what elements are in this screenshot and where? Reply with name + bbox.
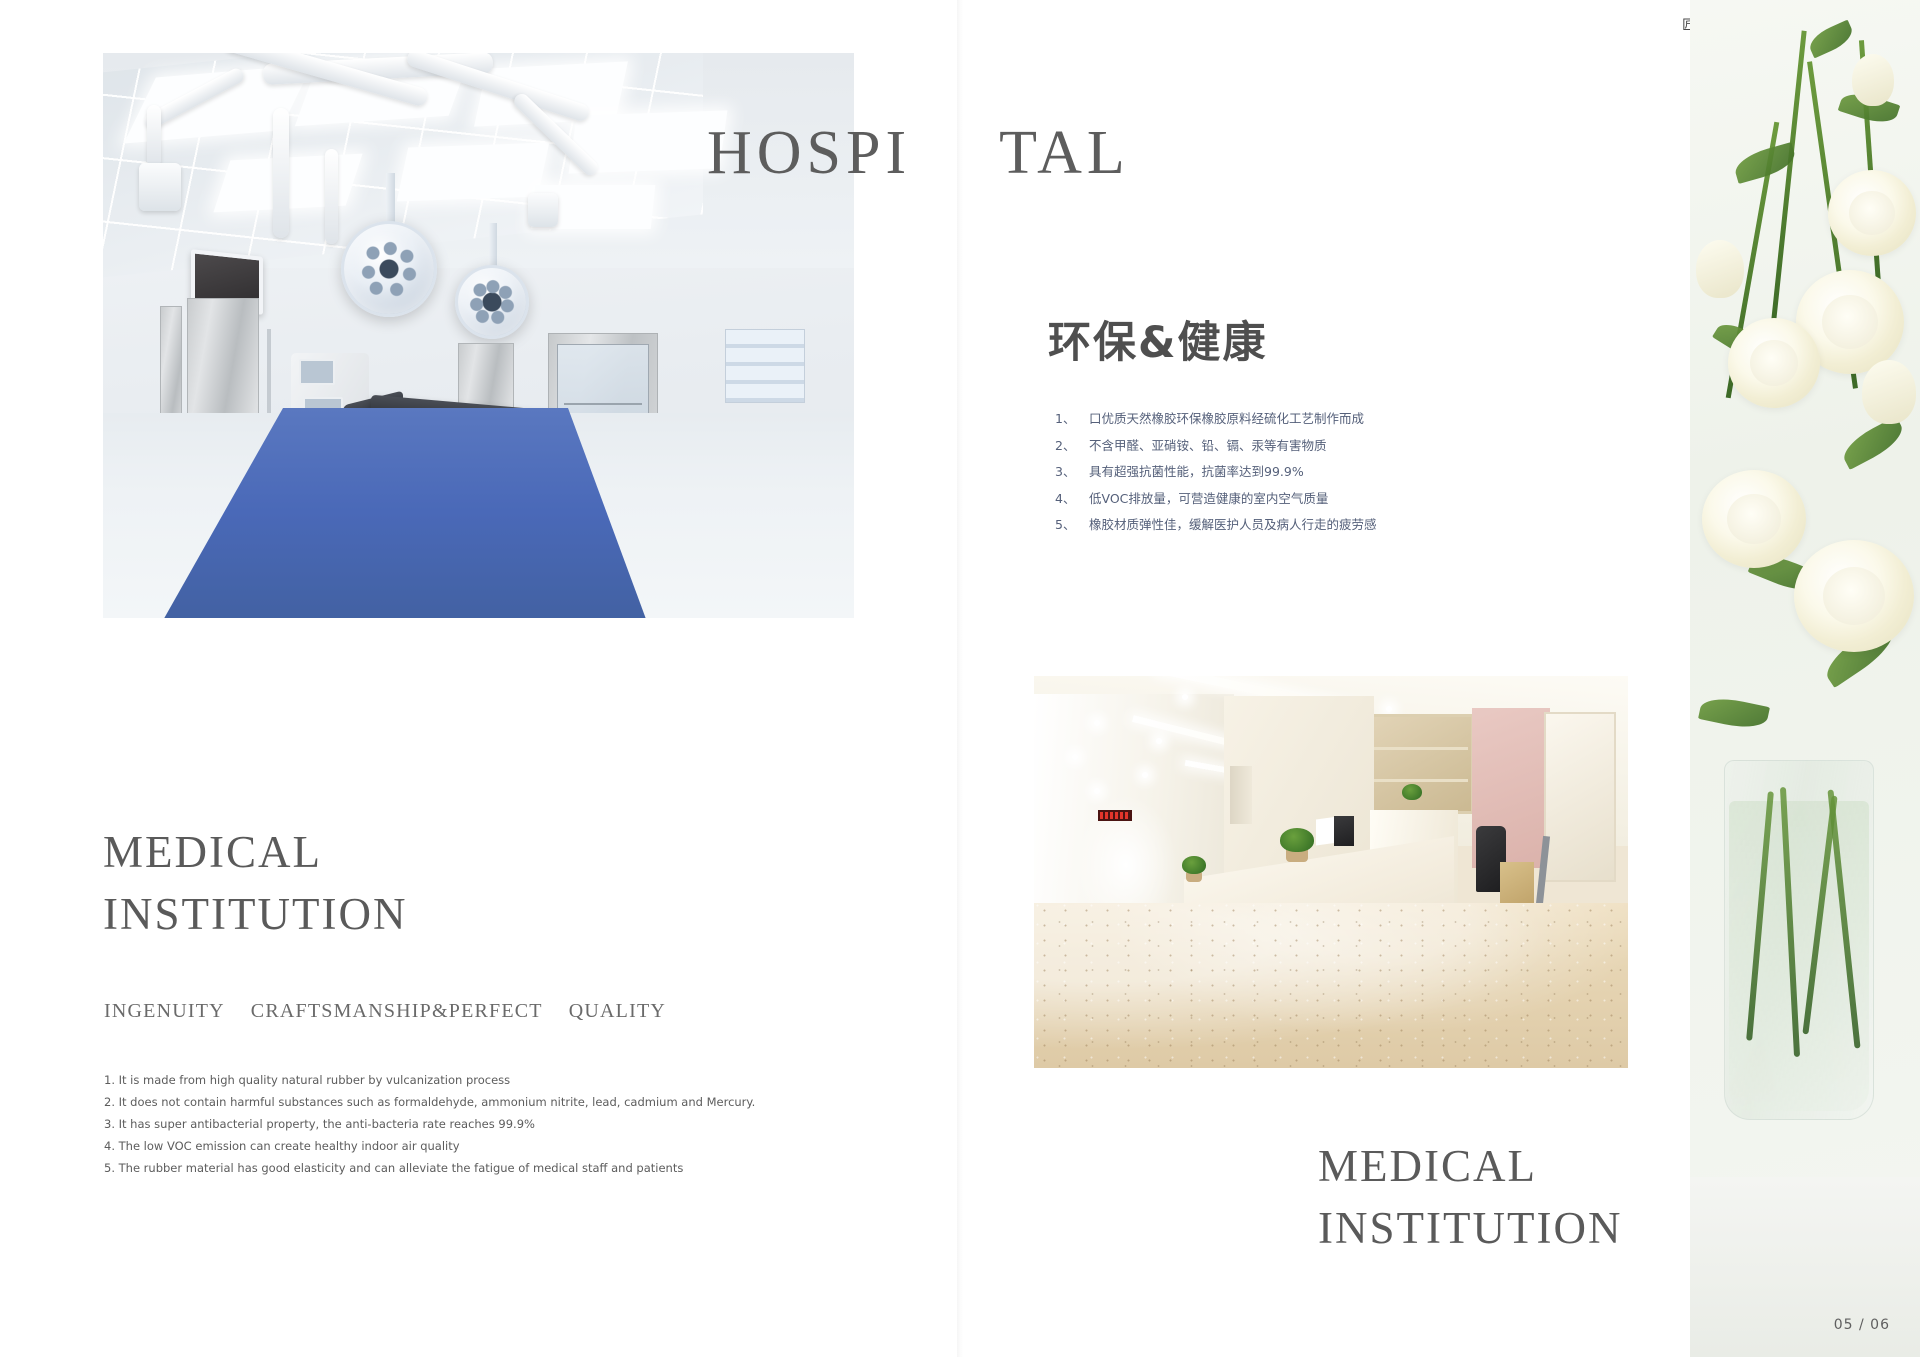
list-item: 2. It does not contain harmful substance…: [104, 1091, 755, 1113]
lamp-stem: [489, 223, 497, 269]
list-item-text: 橡胶材质弹性佳，缓解医护人员及病人行走的疲劳感: [1089, 517, 1377, 532]
wall-shelving: [1364, 714, 1474, 814]
list-item: 2、不含甲醛、亚硝铵、铅、镉、汞等有害物质: [1055, 433, 1377, 460]
list-item: 1. It is made from high quality natural …: [104, 1069, 755, 1091]
list-item: 3. It has super antibacterial property, …: [104, 1113, 755, 1135]
pendant-column: [273, 108, 289, 238]
ceiling-spotlight: [1182, 694, 1188, 700]
ceiling-spotlight: [1094, 788, 1100, 794]
list-item-text: 低VOC排放量，可营造健康的室内空气质量: [1089, 491, 1328, 506]
lamp-stem: [386, 173, 395, 227]
potted-plant: [1280, 828, 1314, 852]
feature-list-cn: 1、口优质天然橡胶环保橡胶原料经硫化工艺制作而成 2、不含甲醛、亚硝铵、铅、镉、…: [1055, 406, 1377, 539]
wall-vent: [1230, 766, 1252, 824]
list-item-number: 1、: [1055, 406, 1089, 433]
ceiling-spotlight: [1072, 754, 1078, 760]
supply-wall-rack: [725, 329, 805, 403]
right-section-title: MEDICAL INSTITUTION: [1318, 1135, 1622, 1259]
rubber-floor-beige: [1034, 903, 1628, 1068]
wood-cabinet: [1500, 862, 1534, 908]
rose-bud: [1696, 240, 1744, 298]
page-gutter: [957, 0, 963, 1357]
ceiling-spotlight: [1156, 738, 1162, 744]
white-rose: [1828, 170, 1916, 256]
page-title: HOSPITAL: [707, 122, 1130, 184]
title-part-2: TAL: [999, 119, 1130, 187]
left-title-line-2: INSTITUTION: [103, 883, 407, 945]
glass-vase: [1724, 760, 1874, 1120]
ceiling-light-panel: [397, 143, 550, 202]
rose-bud: [1862, 360, 1916, 424]
potted-plant: [1182, 856, 1206, 874]
subtitle-word-1: INGENUITY: [104, 1000, 225, 1022]
page-number: 05 / 06: [1834, 1317, 1890, 1333]
surgical-lamp: [455, 265, 529, 339]
white-roses-vase-photo: [1690, 0, 1920, 1357]
white-rose: [1702, 470, 1806, 568]
left-section-title: MEDICAL INSTITUTION: [103, 821, 407, 945]
right-title-line-1: MEDICAL: [1318, 1135, 1622, 1197]
led-sign: [1098, 810, 1132, 821]
title-part-1: HOSPI: [707, 119, 911, 187]
list-item: 5. The rubber material has good elastici…: [104, 1157, 755, 1179]
pendant-housing: [528, 193, 558, 227]
feature-list-en: 1. It is made from high quality natural …: [104, 1069, 755, 1179]
rose-bud: [1852, 54, 1894, 106]
floor-speckle-texture: [1034, 903, 1628, 1068]
left-title-line-1: MEDICAL: [103, 821, 407, 883]
list-item-number: 3、: [1055, 459, 1089, 486]
list-item: 4、低VOC排放量，可营造健康的室内空气质量: [1055, 486, 1377, 513]
surgical-lamp: [341, 221, 437, 317]
pendant-housing: [139, 163, 181, 211]
list-item: 1、口优质天然橡胶环保橡胶原料经硫化工艺制作而成: [1055, 406, 1377, 433]
brochure-page: 匠 / 心 / 工 / 艺铸 / 造 / 完 / 美: [0, 0, 1920, 1357]
machine-screen: [299, 359, 335, 385]
left-subtitle: INGENUITYCRAFTSMANSHIP&PERFECTQUALITY: [104, 1000, 666, 1023]
list-item: 5、橡胶材质弹性佳，缓解医护人员及病人行走的疲劳感: [1055, 512, 1377, 539]
potted-plant: [1402, 784, 1422, 800]
list-item-text: 不含甲醛、亚硝铵、铅、镉、汞等有害物质: [1089, 438, 1327, 453]
subtitle-word-2: CRAFTSMANSHIP&PERFECT: [251, 1000, 543, 1022]
list-item: 3、具有超强抗菌性能，抗菌率达到99.9%: [1055, 459, 1377, 486]
list-item-number: 4、: [1055, 486, 1089, 513]
white-rose: [1794, 540, 1914, 652]
lobby-door: [1544, 712, 1616, 882]
list-item-number: 2、: [1055, 433, 1089, 460]
list-item-text: 口优质天然橡胶环保橡胶原料经硫化工艺制作而成: [1089, 411, 1364, 426]
list-item-number: 5、: [1055, 512, 1089, 539]
hospital-lobby-photo: [1034, 676, 1628, 1068]
pendant-column: [147, 105, 161, 167]
white-rose: [1728, 318, 1820, 408]
list-item: 4. The low VOC emission can create healt…: [104, 1135, 755, 1157]
section-heading-cn: 环保&健康: [1048, 308, 1268, 370]
ceiling-spotlight: [1386, 706, 1392, 712]
right-title-line-2: INSTITUTION: [1318, 1197, 1622, 1259]
pendant-column: [325, 149, 338, 244]
desk-monitor: [1334, 816, 1354, 846]
ceiling-spotlight: [1094, 720, 1100, 726]
list-item-text: 具有超强抗菌性能，抗菌率达到99.9%: [1089, 464, 1304, 479]
subtitle-word-3: QUALITY: [569, 1000, 666, 1022]
ceiling-spotlight: [1142, 772, 1148, 778]
